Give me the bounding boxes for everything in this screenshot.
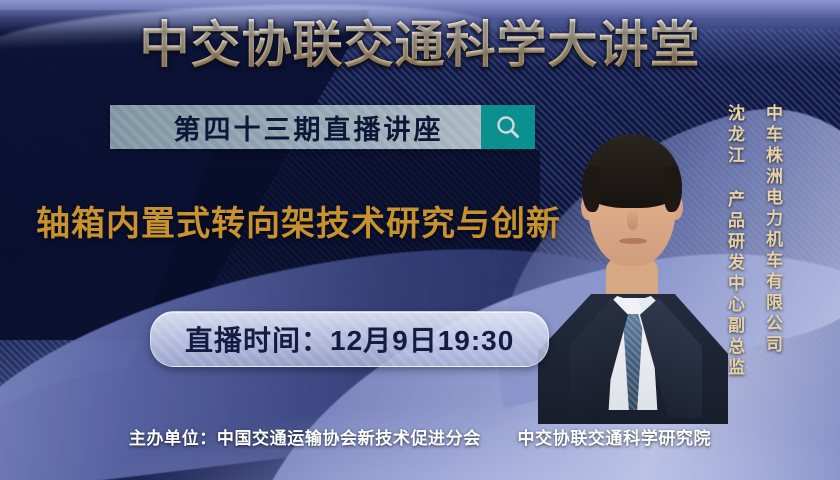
footer-organizers: 主办单位：中国交通运输协会新技术促进分会 中交协联交通科学研究院 <box>0 424 840 449</box>
session-banner: 第四十三期直播讲座 <box>110 105 535 149</box>
speaker-portrait <box>548 108 716 408</box>
speaker-name-title: 沈龙江 产品研发中心副总监 <box>722 104 747 379</box>
portrait-nose <box>627 208 638 230</box>
broadcast-time-badge: 直播时间：12月9日19:30 <box>150 311 549 367</box>
session-label: 第四十三期直播讲座 <box>148 108 444 147</box>
portrait-hair-side-right <box>664 166 682 212</box>
broadcast-time-text: 直播时间：12月9日19:30 <box>185 325 514 356</box>
portrait-hair-side-left <box>582 166 600 212</box>
speaker-company: 中车株洲电力机车有限公司 <box>760 104 785 356</box>
search-button[interactable] <box>481 105 535 149</box>
session-banner-fill: 第四十三期直播讲座 <box>110 105 481 149</box>
organizer-secondary: 中交协联交通科学研究院 <box>518 429 712 448</box>
lecture-topic: 轴箱内置式转向架技术研究与创新 <box>36 196 561 245</box>
lecture-poster: 中交协联交通科学大讲堂 第四十三期直播讲座 轴箱内置式转向架技术研究与创新 直播… <box>0 0 840 480</box>
portrait-mouth <box>619 238 647 244</box>
organizer-primary: 主办单位：中国交通运输协会新技术促进分会 <box>129 429 481 448</box>
page-title: 中交协联交通科学大讲堂 <box>0 14 840 76</box>
search-icon <box>494 113 522 141</box>
